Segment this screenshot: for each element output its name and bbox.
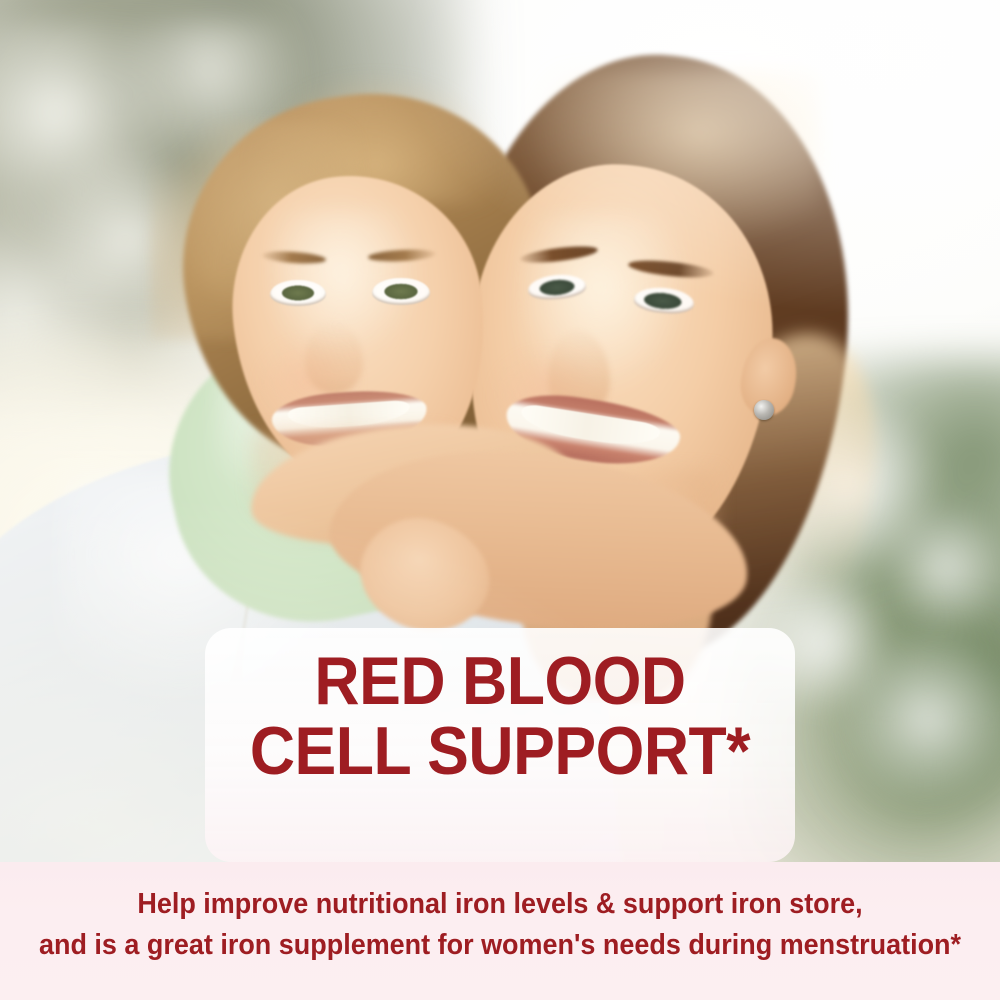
- woman-earring: [754, 400, 774, 420]
- girl-eye-left: [270, 280, 326, 306]
- girl-eye-right: [372, 278, 430, 305]
- subtitle-text: Help improve nutritional iron levels & s…: [35, 884, 965, 966]
- product-banner: RED BLOOD CELL SUPPORT* Help improve nut…: [0, 0, 1000, 1000]
- headline-text: RED BLOOD CELL SUPPORT*: [229, 646, 772, 786]
